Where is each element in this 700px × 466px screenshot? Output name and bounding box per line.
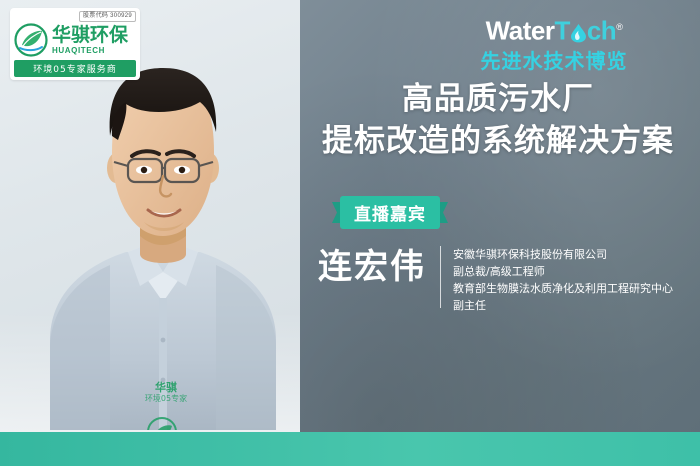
brand-wordmark: WaterTch®: [420, 12, 688, 46]
logo-company-en: HUAQITECH: [52, 47, 128, 55]
water-drop-icon: [570, 19, 587, 39]
speaker-credential-line: 副主任: [453, 297, 673, 314]
brand-word-water: Water: [486, 16, 555, 46]
stock-code-badge: 股票代码 300929: [79, 11, 136, 22]
title-line-2: 提标改造的系统解决方案: [300, 120, 696, 162]
speaker-name: 连宏伟: [318, 244, 440, 290]
logo-wordmark: 华骐环保 HUAQITECH: [52, 26, 128, 55]
brand-registered-mark: ®: [616, 22, 622, 32]
ribbon-label: 直播嘉宾: [340, 196, 440, 229]
shirt-logo-subtext: 环境05专家: [126, 395, 206, 403]
speaker-credential-line: 安徽华骐环保科技股份有限公司: [453, 246, 673, 263]
speaker-credentials: 安徽华骐环保科技股份有限公司 副总裁/高级工程师 教育部生物膜法水质净化及利用工…: [441, 244, 673, 314]
title-line-1: 高品质污水厂: [300, 78, 696, 120]
brand-subtitle: 先进水技术博览: [420, 49, 688, 73]
webinar-poster: 华骐 环境05专家 股票代码 300929 华骐环保 HUAQITECH 环境0…: [0, 0, 700, 466]
leaf-water-circle-icon: [14, 23, 48, 57]
company-logo: 股票代码 300929 华骐环保 HUAQITECH 环境05专家服务商: [10, 8, 140, 80]
shirt-logo: 华骐 环境05专家: [126, 382, 206, 403]
page-title: 高品质污水厂 提标改造的系统解决方案: [300, 78, 696, 162]
stock-code-row: 股票代码 300929: [14, 11, 136, 22]
logo-main-row: 华骐环保 HUAQITECH: [14, 23, 136, 57]
brand-word-ch: ch: [587, 16, 616, 46]
shirt-logo-text: 华骐: [126, 382, 206, 393]
speaker-credential-line: 副总裁/高级工程师: [453, 263, 673, 280]
bottom-accent-bar: [0, 432, 700, 466]
speaker-credential-line: 教育部生物膜法水质净化及利用工程研究中心: [453, 280, 673, 297]
logo-slogan: 环境05专家服务商: [14, 60, 136, 77]
event-brand: WaterTch® 先进水技术博览: [420, 12, 688, 73]
speaker-block: 连宏伟 安徽华骐环保科技股份有限公司 副总裁/高级工程师 教育部生物膜法水质净化…: [318, 244, 688, 314]
brand-word-t: T: [554, 16, 569, 46]
live-guest-ribbon: 直播嘉宾: [332, 196, 448, 229]
logo-company-cn: 华骐环保: [52, 24, 128, 46]
